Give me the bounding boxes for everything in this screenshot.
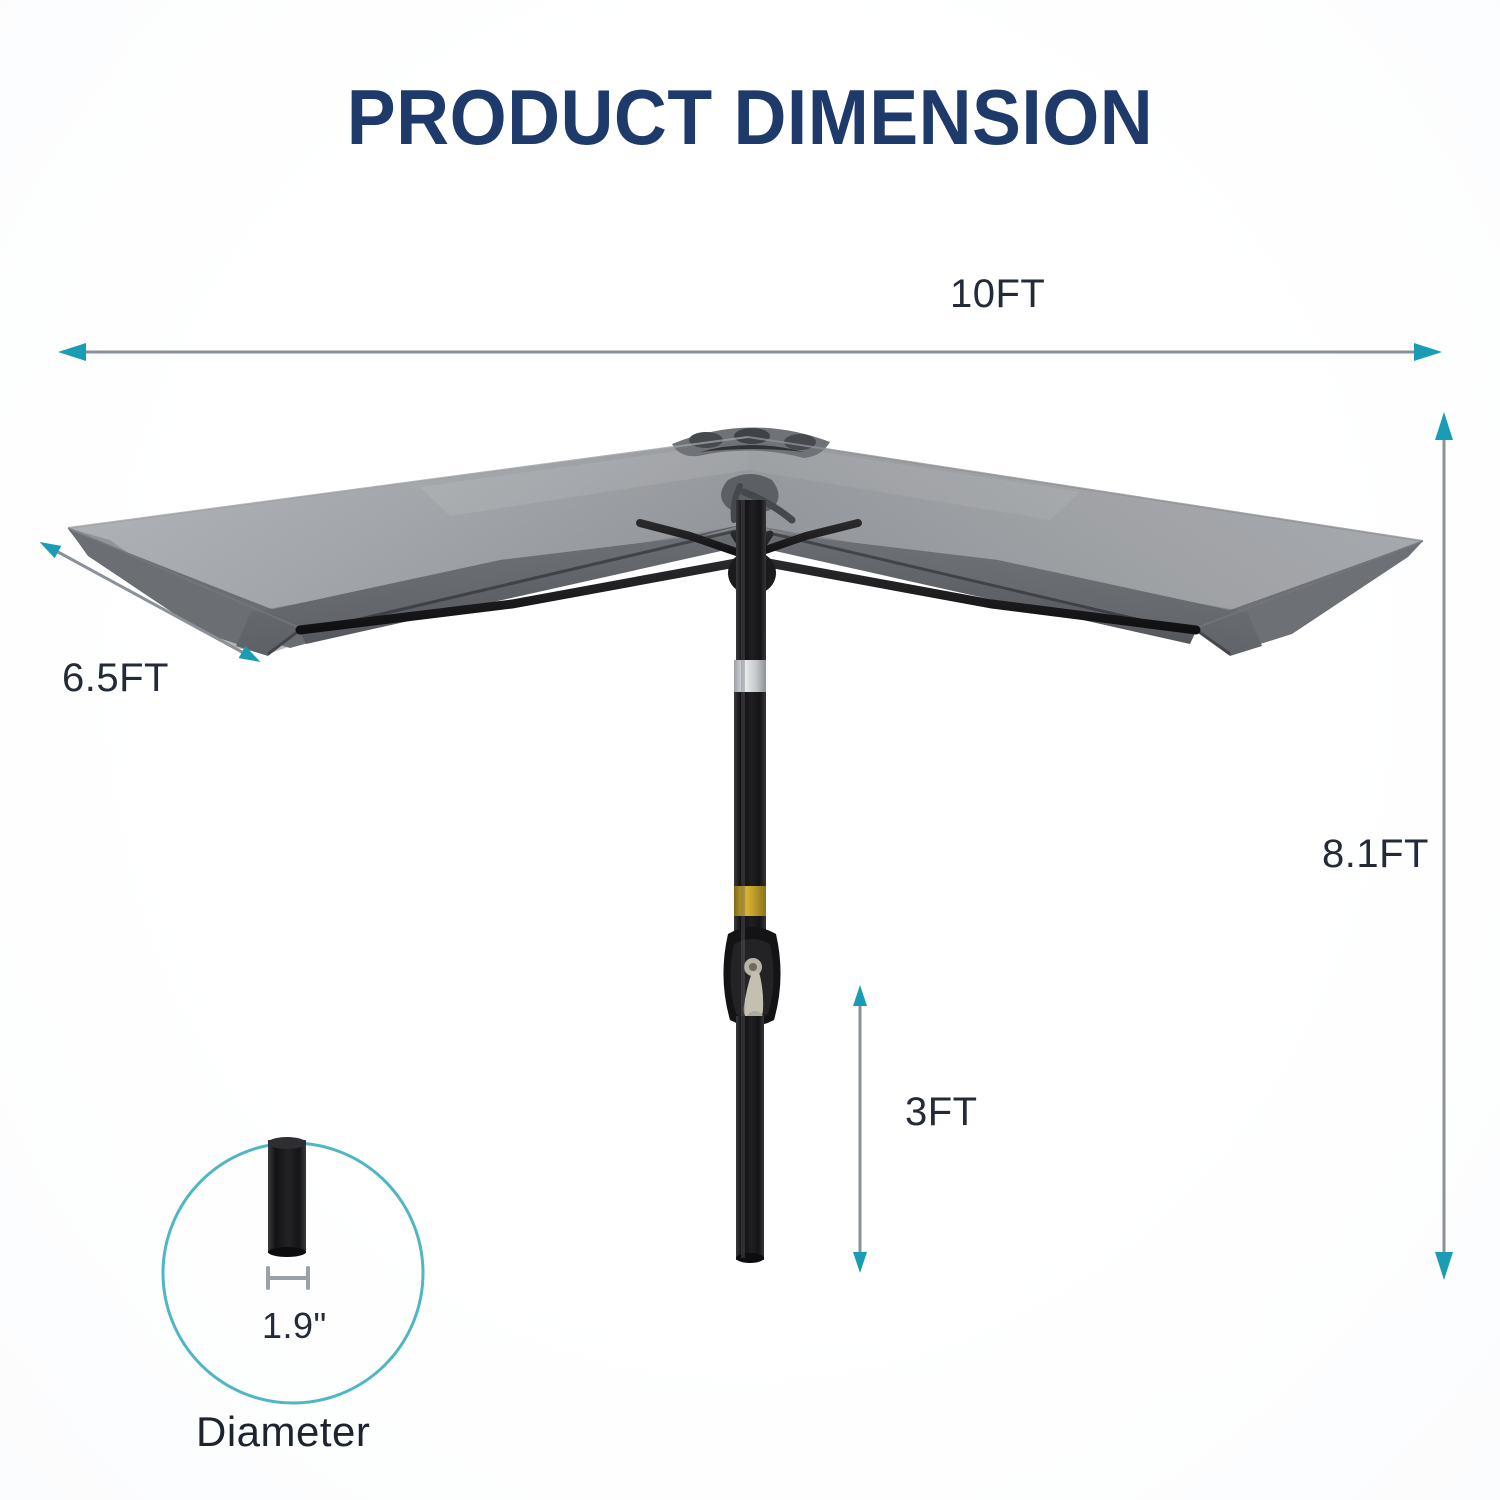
measure-bar-icon — [268, 1268, 308, 1288]
product-dimension-diagram: PRODUCT DIMENSION — [0, 0, 1500, 1500]
diameter-caption: Diameter — [196, 1408, 370, 1456]
pole-cross-section — [268, 1137, 306, 1257]
dimension-label-depth: 6.5FT — [62, 656, 169, 701]
dimension-label-clearance: 3FT — [905, 1090, 978, 1135]
page-title: PRODUCT DIMENSION — [45, 72, 1455, 163]
diameter-callout — [0, 0, 1500, 1500]
dimension-label-width: 10FT — [950, 272, 1045, 317]
diameter-measure-label: 1.9" — [262, 1305, 327, 1347]
dimension-label-height: 8.1FT — [1322, 832, 1429, 877]
